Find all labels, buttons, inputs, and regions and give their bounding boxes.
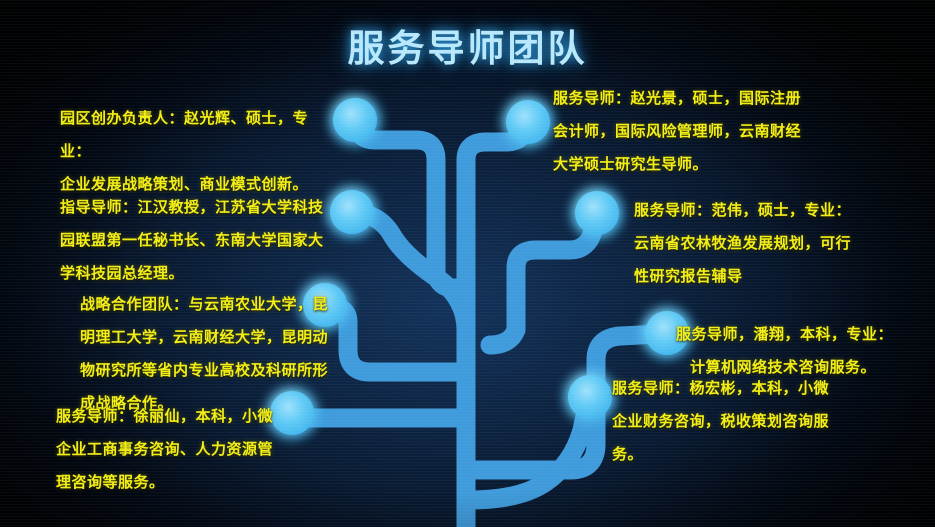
line: 物研究所等省内专业高校及科研所形	[80, 354, 350, 387]
line: 园联盟第一任秘书长、东南大学国家大	[60, 224, 336, 257]
node-guidance-mentor	[330, 190, 374, 234]
line: 服务导师：范伟，硕士，专业：	[634, 194, 906, 227]
line: 战略合作团队：与云南农业大学，昆	[80, 288, 350, 321]
line: 云南省农林牧渔发展规划，可行	[634, 227, 906, 260]
branch-to-strategic-partner	[332, 306, 466, 372]
branch-to-guidance-mentor	[364, 214, 466, 330]
node-yanghongbin	[568, 375, 612, 419]
line: 大学硕士研究生导师。	[553, 148, 843, 181]
node-fanwei	[575, 191, 619, 235]
line: 务。	[612, 438, 884, 471]
slide-canvas: 服务导师团队 园区创办负责人：赵光辉、硕士，专业： 企业发展战略策划、商业模式创…	[0, 0, 935, 527]
line: 学科技园总经理。	[60, 257, 336, 290]
branch-to-yanghongbin	[470, 402, 588, 500]
text-block-service-mentor-fanwei: 服务导师：范伟，硕士，专业： 云南省农林牧渔发展规划，可行 性研究报告辅导	[634, 194, 906, 293]
line: 服务导师：徐丽仙，本科，小微	[56, 400, 306, 433]
line: 企业工商事务咨询、人力资源管	[56, 433, 306, 466]
node-zhaoguangjing	[506, 100, 550, 144]
text-block-park-founder-lead: 园区创办负责人：赵光辉、硕士，专业： 企业发展战略策划、商业模式创新。	[60, 102, 332, 201]
text-block-service-mentor-zhaoguangjing: 服务导师：赵光景，硕士，国际注册 会计师，国际风险管理师，云南财经 大学硕士研究…	[553, 82, 843, 181]
text-block-service-mentor-xulixian: 服务导师：徐丽仙，本科，小微 企业工商事务咨询、人力资源管 理咨询等服务。	[56, 400, 306, 499]
line: 服务导师：杨宏彬，本科，小微	[612, 372, 884, 405]
line: 性研究报告辅导	[634, 260, 906, 293]
node-park-founder	[333, 98, 377, 142]
text-block-service-mentor-yanghongbin: 服务导师：杨宏彬，本科，小微 企业财务咨询，税收策划咨询服 务。	[612, 372, 884, 471]
text-block-guidance-mentor: 指导导师：江汉教授，江苏省大学科技 园联盟第一任秘书长、东南大学国家大 学科技园…	[60, 191, 336, 290]
line: 指导导师：江汉教授，江苏省大学科技	[60, 191, 336, 224]
line: 明理工大学，云南财经大学，昆明动	[80, 321, 350, 354]
line: 会计师，国际风险管理师，云南财经	[553, 115, 843, 148]
line: 园区创办负责人：赵光辉、硕士，专业：	[60, 102, 332, 168]
page-title: 服务导师团队	[0, 18, 935, 72]
line: 服务导师：赵光景，硕士，国际注册	[553, 82, 843, 115]
line: 服务导师，潘翔，本科，专业：	[676, 318, 934, 351]
branch-to-fanwei	[490, 220, 595, 345]
line: 理咨询等服务。	[56, 466, 306, 499]
line: 企业财务咨询，税收策划咨询服	[612, 405, 884, 438]
